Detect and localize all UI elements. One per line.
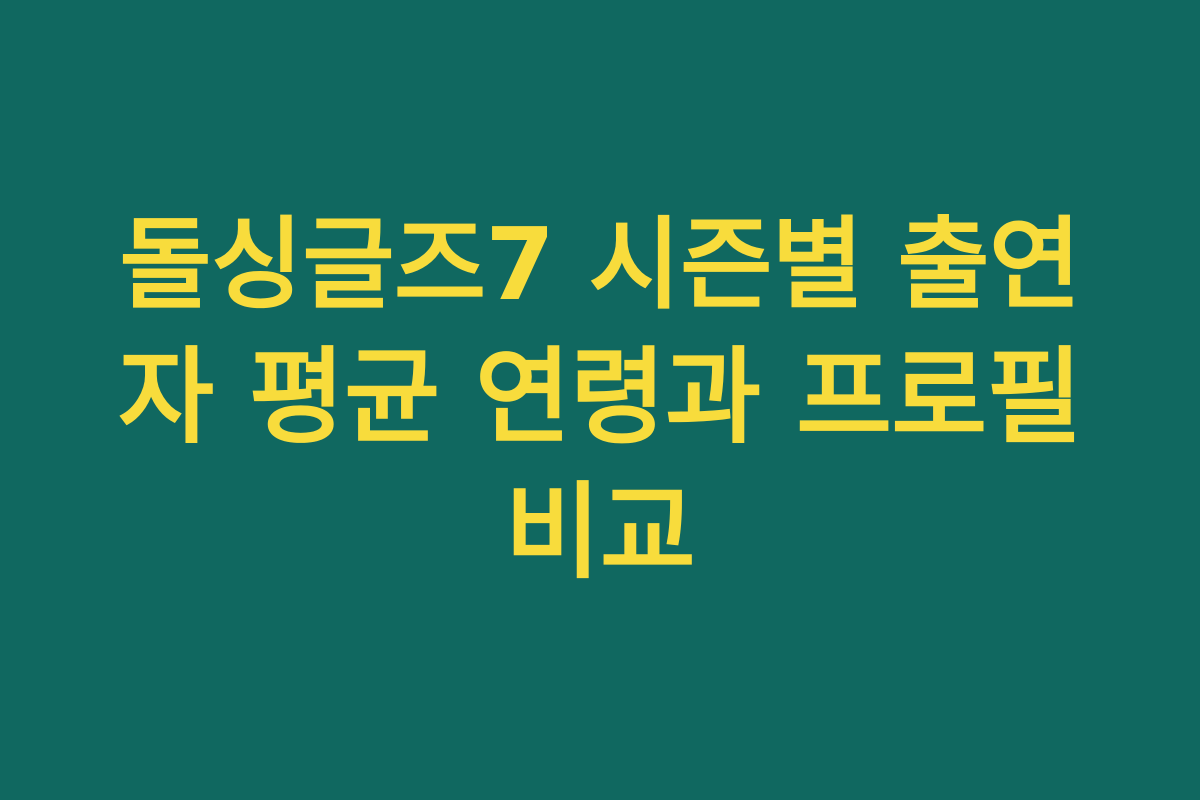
- title-line-1: 돌싱글즈7 시즌별 출연: [118, 200, 1082, 330]
- title-line-3: 비교: [118, 465, 1082, 600]
- title-line-2: 자 평균 연령과 프로필: [118, 330, 1082, 465]
- headline-block: 돌싱글즈7 시즌별 출연 자 평균 연령과 프로필 비교: [110, 200, 1090, 600]
- title-card: 돌싱글즈7 시즌별 출연 자 평균 연령과 프로필 비교: [0, 0, 1200, 800]
- page-title: 돌싱글즈7 시즌별 출연 자 평균 연령과 프로필 비교: [118, 200, 1082, 600]
